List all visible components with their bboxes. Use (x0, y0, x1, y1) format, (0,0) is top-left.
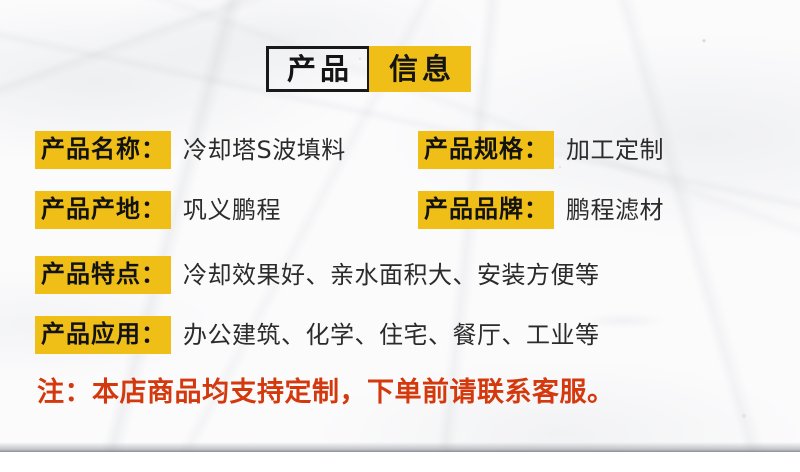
field-value: 冷却效果好、亲水面积大、安装方便等 (183, 263, 600, 287)
section-header: 产品 信息 (266, 46, 471, 92)
field-label: 产品规格： (418, 131, 554, 169)
field-product-name: 产品名称： 冷却塔S波填料 (35, 131, 346, 169)
field-label: 产品应用： (35, 316, 171, 354)
header-boxed-word: 产品 (283, 55, 353, 84)
field-product-origin: 产品产地： 巩义鹏程 (35, 191, 281, 229)
field-value: 冷却塔S波填料 (183, 138, 346, 162)
field-value: 鹏程滤材 (566, 198, 664, 222)
field-value: 加工定制 (566, 138, 664, 162)
field-label: 产品品牌： (418, 191, 554, 229)
field-label: 产品特点： (35, 256, 171, 294)
field-product-applications: 产品应用： 办公建筑、化学、住宅、餐厅、工业等 (35, 316, 600, 354)
header-highlight-tag: 信息 (369, 46, 471, 92)
header-outlined-box: 产品 (266, 46, 370, 92)
card-content: 产品 信息 产品名称： 冷却塔S波填料 产品规格： 加工定制 产品产地： 巩义鹏… (0, 0, 800, 452)
customization-note: 注：本店商品均支持定制，下单前请联系客服。 (37, 379, 615, 406)
header-tag-word: 信息 (385, 55, 455, 84)
field-value: 巩义鹏程 (183, 198, 281, 222)
product-info-card: 产品 信息 产品名称： 冷却塔S波填料 产品规格： 加工定制 产品产地： 巩义鹏… (0, 0, 800, 452)
field-label: 产品名称： (35, 131, 171, 169)
field-product-specification: 产品规格： 加工定制 (418, 131, 664, 169)
field-product-brand: 产品品牌： 鹏程滤材 (418, 191, 664, 229)
field-value: 办公建筑、化学、住宅、餐厅、工业等 (183, 323, 600, 347)
field-product-features: 产品特点： 冷却效果好、亲水面积大、安装方便等 (35, 256, 600, 294)
field-label: 产品产地： (35, 191, 171, 229)
